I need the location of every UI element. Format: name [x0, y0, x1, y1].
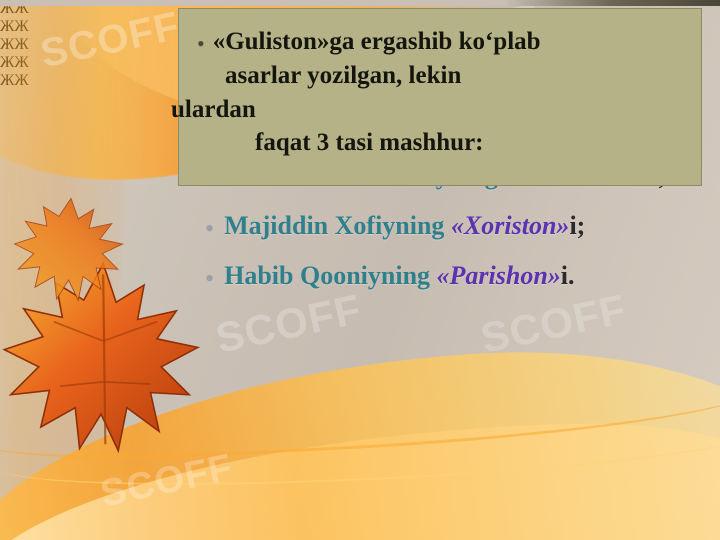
decorative-bottom-swoosh-2	[0, 415, 720, 540]
list-item: • Majiddin Xofiyning «Xoriston»i;	[205, 210, 675, 242]
slide-canvas: ЖЖ ЖЖ ЖЖ ЖЖ ЖЖ SCOFF SCOFF SCOFF SCOFF S…	[0, 0, 720, 540]
maple-leaf-icon	[0, 255, 215, 470]
decorative-bottom-line	[0, 355, 720, 469]
list-item: • Habib Qooniyning «Parishon»i.	[205, 260, 675, 292]
work-title: «Xoriston»	[451, 211, 570, 240]
overlay-line-1: «Guliston»ga ergashib ko‘plab	[213, 25, 541, 59]
overlay-line-3: ulardan	[171, 93, 683, 127]
top-edge-strip	[0, 0, 720, 6]
overlay-callout-box: • «Guliston»ga ergashib ko‘plab asarlar …	[178, 8, 702, 186]
bullet-marker-icon: •	[197, 33, 205, 55]
work-suffix: i.	[561, 261, 575, 290]
bullet-text: Majiddin Xofiyning «Xoriston»i;	[224, 210, 585, 242]
bullet-text: Habib Qooniyning «Parishon»i.	[224, 260, 574, 292]
work-title: «Parishon»	[437, 261, 561, 290]
bullet-marker-icon: •	[205, 266, 214, 292]
watermark-text: SCOFF	[97, 447, 237, 517]
author-name: Majiddin Xofiyning	[224, 211, 444, 240]
overlay-line-2: asarlar yozilgan, lekin	[197, 59, 683, 93]
work-suffix: i;	[569, 211, 585, 240]
maple-leaf-small-icon	[6, 190, 136, 310]
overlay-line-4: faqat 3 tasi mashhur:	[197, 126, 683, 160]
decorative-bottom-line-2	[0, 405, 720, 493]
decorative-bottom-swoosh	[0, 329, 720, 540]
bullet-marker-icon: •	[205, 216, 214, 242]
author-name: Habib Qooniyning	[224, 261, 430, 290]
overlay-first-line: • «Guliston»ga ergashib ko‘plab	[197, 25, 683, 59]
